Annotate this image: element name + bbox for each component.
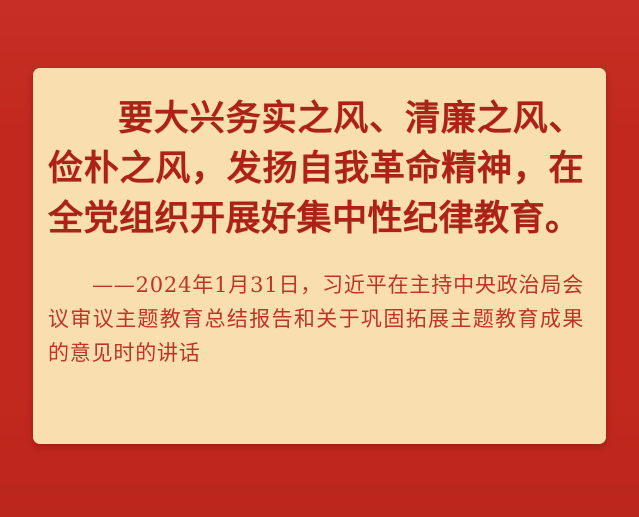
quote-text: 要大兴务实之风、清廉之风、俭朴之风，发扬自我革命精神，在全党组织开展好集中性纪律… (48, 94, 584, 244)
poster-root: 要大兴务实之风、清廉之风、俭朴之风，发扬自我革命精神，在全党组织开展好集中性纪律… (0, 0, 639, 517)
quote-card: 要大兴务实之风、清廉之风、俭朴之风，发扬自我革命精神，在全党组织开展好集中性纪律… (33, 68, 606, 444)
quote-attribution: ——2024年1月31日，习近平在主持中央政治局会议审议主题教育总结报告和关于巩… (48, 268, 584, 370)
